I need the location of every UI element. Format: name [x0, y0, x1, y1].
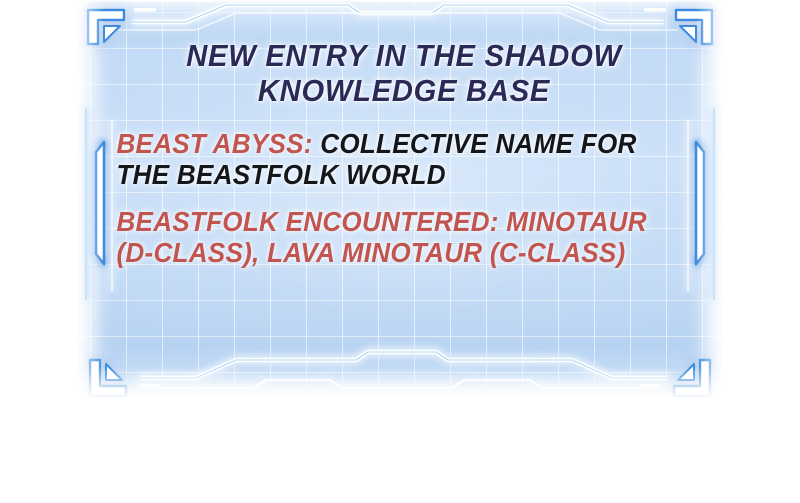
hud-notification-screen: NEW ENTRY IN THE SHADOW KNOWLEDGE BASE B… [0, 0, 800, 503]
entry-row-0: BEAST ABYSS: COLLECTIVE NAME FOR THE BEA… [96, 128, 669, 190]
entry-label-0: BEAST ABYSS: [116, 128, 312, 159]
notification-title: NEW ENTRY IN THE SHADOW KNOWLEDGE BASE [114, 38, 693, 108]
entry-label-1: BEASTFOLK ENCOUNTERED: [116, 206, 498, 237]
entry-row-1: BEASTFOLK ENCOUNTERED: MINOTAUR (D-CLASS… [96, 206, 669, 268]
notification-content: NEW ENTRY IN THE SHADOW KNOWLEDGE BASE B… [96, 38, 712, 284]
